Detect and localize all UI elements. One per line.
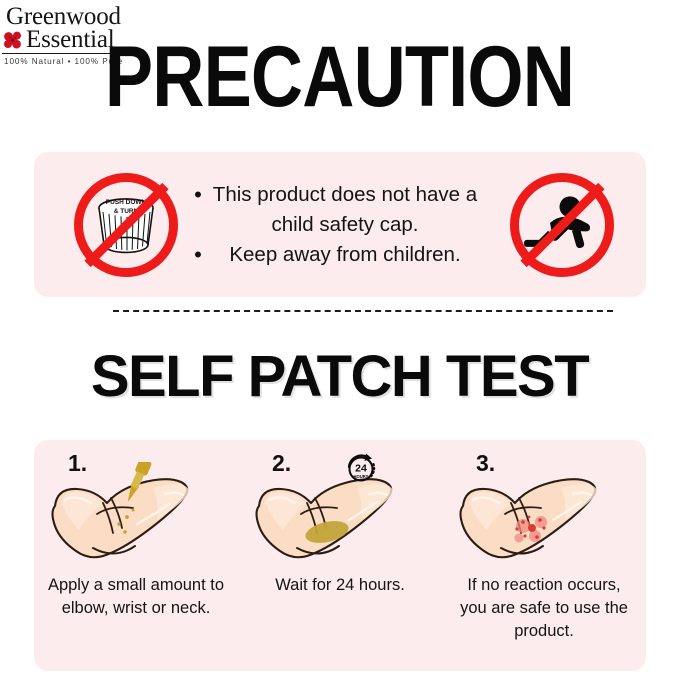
bullet-marker: • <box>188 180 208 210</box>
precaution-panel: PUSH DOWN & TURN • This product does not… <box>34 152 646 297</box>
svg-text:HOURS: HOURS <box>353 474 368 479</box>
no-children-icon <box>510 173 614 277</box>
precaution-bullet-list: • This product does not have a child saf… <box>178 180 510 270</box>
list-item: • This product does not have a child saf… <box>188 180 504 240</box>
precaution-bullet-1: This product does not have a child safet… <box>208 180 504 240</box>
svg-text:24: 24 <box>355 463 367 475</box>
page-title-self-patch-test: SELF PATCH TEST <box>0 348 679 406</box>
bullet-marker: • <box>188 240 208 270</box>
section-divider <box>113 310 613 312</box>
elbow-with-rash-illustration <box>449 462 639 572</box>
step-caption: Wait for 24 hours. <box>263 574 417 597</box>
patch-test-step-1: 1. <box>34 440 238 671</box>
patch-test-steps-panel: 1. <box>34 440 646 671</box>
page-title-precaution: PRECAUTION <box>54 34 624 120</box>
precaution-bullet-2: Keep away from children. <box>208 240 504 270</box>
red-flower-icon <box>2 29 24 51</box>
elbow-with-oil-patch-illustration: 24 HOURS <box>245 462 435 572</box>
24-hours-clock-icon: 24 HOURS <box>341 448 381 488</box>
step-caption: Apply a small amount to elbow, wrist or … <box>34 574 238 620</box>
elbow-with-dropper-illustration <box>41 462 231 572</box>
patch-test-step-3: 3. <box>442 440 646 671</box>
no-child-safety-cap-icon: PUSH DOWN & TURN <box>74 173 178 277</box>
patch-test-step-2: 2. 24 HOURS <box>238 440 442 671</box>
step-caption: If no reaction occurs, you are safe to u… <box>442 574 646 643</box>
list-item: • Keep away from children. <box>188 240 504 270</box>
